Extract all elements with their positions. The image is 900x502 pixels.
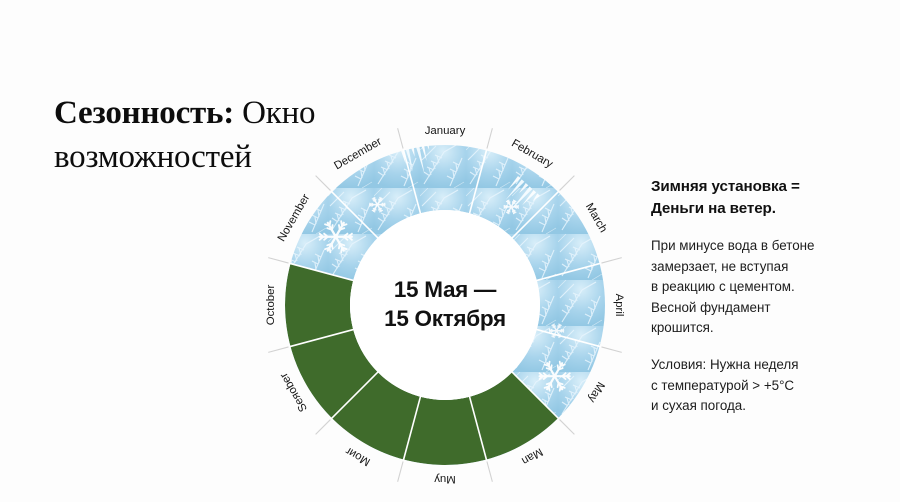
info-paragraph-freezing-line-3: в реакцию с цементом.	[651, 279, 795, 294]
info-paragraph-conditions-line-3: и сухая погода.	[651, 398, 746, 413]
month-label-muy: Muy	[434, 473, 456, 485]
info-paragraph-conditions-line-2: с температурой > +5°C	[651, 378, 794, 393]
month-label-text: April	[613, 294, 625, 317]
center-caption-line2: 15 Октября	[350, 305, 540, 334]
page-title-rest: Окно	[234, 95, 315, 131]
month-label-april: April	[613, 294, 625, 317]
month-label-text: Muy	[434, 473, 456, 485]
info-paragraph-conditions-line-1: Условия: Нужна неделя	[651, 357, 798, 372]
info-paragraph-freezing-line-5: крошится.	[651, 320, 714, 335]
info-panel-heading: Зимняя установка = Деньги на ветер.	[651, 176, 863, 219]
month-label-text: October	[265, 285, 277, 326]
info-paragraph-freezing-line-2: замерзает, не вступая	[651, 259, 788, 274]
info-paragraph-freezing-line-4: Весной фундамент	[651, 300, 771, 315]
info-paragraph-freezing-line-1: При минусе вода в бетоне	[651, 238, 815, 253]
slide-canvas: Сезонность: Окно возможностей	[0, 0, 900, 502]
donut-center-caption: 15 Мая — 15 Октября	[350, 276, 540, 334]
info-panel: Зимняя установка = Деньги на ветер. При …	[651, 176, 863, 416]
info-paragraph-conditions: Условия: Нужна неделяс температурой > +5…	[651, 355, 863, 416]
info-paragraph-freezing: При минусе вода в бетонезамерзает, не вс…	[651, 236, 863, 338]
center-caption-line1: 15 Мая —	[350, 276, 540, 305]
seasonality-donut-chart: JanuaryFebruaryMarchAprilMayManMuyМоигSe…	[282, 142, 608, 468]
month-label-october: October	[265, 285, 277, 326]
page-title-emphasis: Сезонность:	[54, 95, 234, 131]
info-heading-line2: Деньги на ветер.	[651, 198, 863, 220]
info-heading-line1: Зимняя установка =	[651, 176, 863, 198]
